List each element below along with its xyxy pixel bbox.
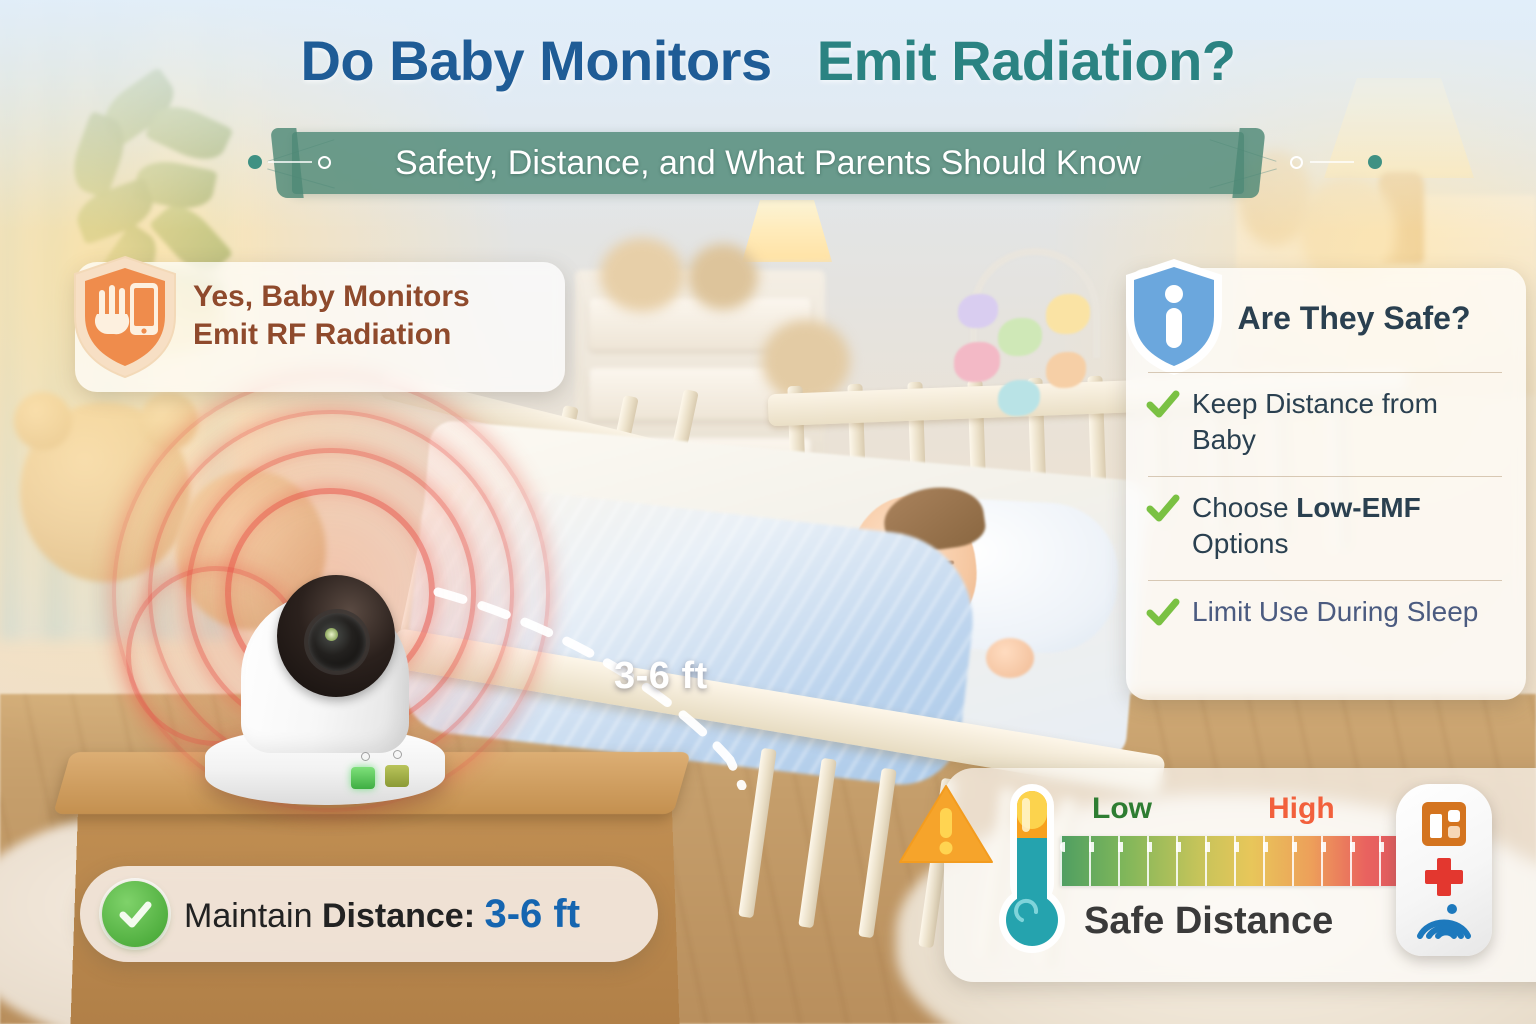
warning-triangle-icon xyxy=(898,782,994,866)
decor-ring-right xyxy=(1290,156,1303,169)
title-part-2: Emit Radiation? xyxy=(817,29,1236,92)
camera-button[interactable] xyxy=(361,752,370,761)
checklist-item-2-label: Choose Low-EMF Options xyxy=(1192,490,1508,563)
maintain-label-bold: Distance: xyxy=(322,897,475,935)
mobile-toy xyxy=(998,318,1042,356)
mobile-toy xyxy=(1046,352,1086,388)
status-led-green xyxy=(351,767,375,789)
safe-distance-gradient-bar xyxy=(1060,836,1408,886)
thermometer-icon xyxy=(996,780,1068,958)
subtitle-text: Safety, Distance, and What Parents Shoul… xyxy=(292,132,1244,194)
rf-card-line1: Yes, Baby Monitors xyxy=(193,278,547,316)
decor-dot-right xyxy=(1368,155,1382,169)
check-icon xyxy=(1146,492,1180,526)
meter-high-label: High xyxy=(1268,792,1335,826)
mobile-toy xyxy=(998,380,1040,416)
meter-low-label: Low xyxy=(1092,792,1152,826)
page-title: Do Baby Monitors Emit Radiation? xyxy=(0,28,1536,93)
check-icon xyxy=(1146,596,1180,630)
checklist-item-3-label: Limit Use During Sleep xyxy=(1192,594,1478,630)
status-led-olive xyxy=(385,765,409,787)
toy-blob xyxy=(600,238,684,312)
rf-card-line2: Emit RF Radiation xyxy=(193,316,547,354)
rf-radiation-card: Yes, Baby Monitors Emit RF Radiation xyxy=(75,262,565,392)
shield-hand-phone-icon xyxy=(67,254,183,380)
maintain-distance-text: Maintain Distance: 3-6 ft xyxy=(184,892,580,937)
checklist-item-2: Choose Low-EMF Options xyxy=(1146,490,1508,563)
camera-button[interactable] xyxy=(393,750,402,759)
maintain-distance-value: 3-6 ft xyxy=(484,892,580,936)
safe-card-heading: Are They Safe? xyxy=(1126,268,1526,368)
mobile-toy xyxy=(954,342,1000,382)
subtitle-banner: Safety, Distance, and What Parents Shoul… xyxy=(0,130,1536,198)
baby-monitor-device-icon xyxy=(1396,784,1492,956)
checklist-item-1: Keep Distance from Baby xyxy=(1146,386,1508,459)
low-emf-emphasis: Low-EMF xyxy=(1296,492,1420,523)
check-icon xyxy=(1146,388,1180,422)
baby-hand xyxy=(986,638,1034,678)
title-part-1: Do Baby Monitors xyxy=(300,29,771,92)
checklist-item-3: Limit Use During Sleep xyxy=(1146,594,1508,630)
green-check-circle-icon xyxy=(102,881,168,947)
safe-distance-caption: Safe Distance xyxy=(1084,900,1333,943)
are-they-safe-card: Are They Safe? Keep Distance from Baby C… xyxy=(1126,268,1526,700)
mobile-toy xyxy=(958,294,998,328)
camera-lens xyxy=(308,613,366,671)
maintain-distance-pill: Maintain Distance: 3-6 ft xyxy=(80,866,658,962)
checklist-item-1-label: Keep Distance from Baby xyxy=(1192,386,1508,459)
decor-dot-left xyxy=(248,155,262,169)
distance-label: 3-6 ft xyxy=(614,655,708,698)
infographic-canvas: 3-6 ft Do Baby Monitors Emit Radiation? … xyxy=(0,0,1536,1024)
maintain-label-plain: Maintain xyxy=(184,897,322,935)
baby-monitor-camera xyxy=(205,545,445,805)
mobile-toy xyxy=(1046,294,1090,334)
toy-blob xyxy=(688,244,758,310)
